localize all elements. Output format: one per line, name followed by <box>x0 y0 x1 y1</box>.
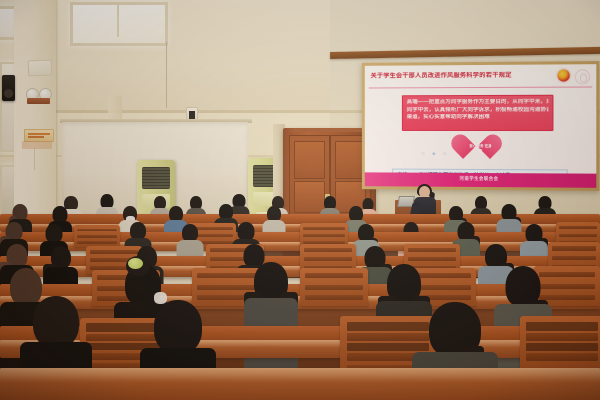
sign-reflection <box>22 141 52 149</box>
lecture-hall-photo: 关于学生会干部人员改进作风服务科学的若干规定 高端——把重点为同学服务作为主要目… <box>0 0 600 400</box>
communist-youth-league-emblem <box>558 69 570 81</box>
slide-red-line: 同学中去，认真倾听广大同学诉求，积极畅通校园沟通协调 <box>407 106 549 114</box>
chair-back[interactable] <box>300 268 368 306</box>
desk-foreground <box>0 368 600 400</box>
heart-icon: 爱心服务 在身边 <box>463 137 497 167</box>
vent-plate <box>28 60 53 77</box>
chair-back-foreground[interactable] <box>520 316 600 374</box>
slide-highlight-box: 高端——把重点为同学服务作为主要目的，从同学中来，到 同学中去，认真倾听广大同学… <box>402 95 554 131</box>
emergency-light-icon <box>26 88 52 104</box>
wall-conduit <box>166 42 167 108</box>
heart-label: 爱心服务 在身边 <box>469 144 492 153</box>
slide-footer-text: 河南学生会联合会 <box>365 175 596 182</box>
hall-window <box>70 2 168 46</box>
school-union-emblem <box>575 69 590 84</box>
slide-red-line: 渠道，实心实意帮助同学解决困难 <box>407 114 549 122</box>
slide-decor-dots: ◇ ◆ ◇ <box>422 151 450 157</box>
wall-conduit-lower <box>34 148 35 170</box>
slide-red-line: 高端——把重点为同学服务作为主要目的，从同学中来，到 <box>407 99 549 107</box>
hair-scrunchie <box>128 258 143 269</box>
slide-title: 关于学生会干部人员改进作风服务科学的若干规定 <box>371 72 538 81</box>
chair-back[interactable] <box>74 225 120 247</box>
slide-footer-band: 河南学生会联合会 <box>365 172 596 187</box>
projection-screen: 关于学生会干部人员改进作风服务科学的若干规定 高端——把重点为同学服务作为主要目… <box>362 61 599 191</box>
wall-speaker-icon <box>2 75 15 101</box>
slide-divider <box>369 86 592 88</box>
